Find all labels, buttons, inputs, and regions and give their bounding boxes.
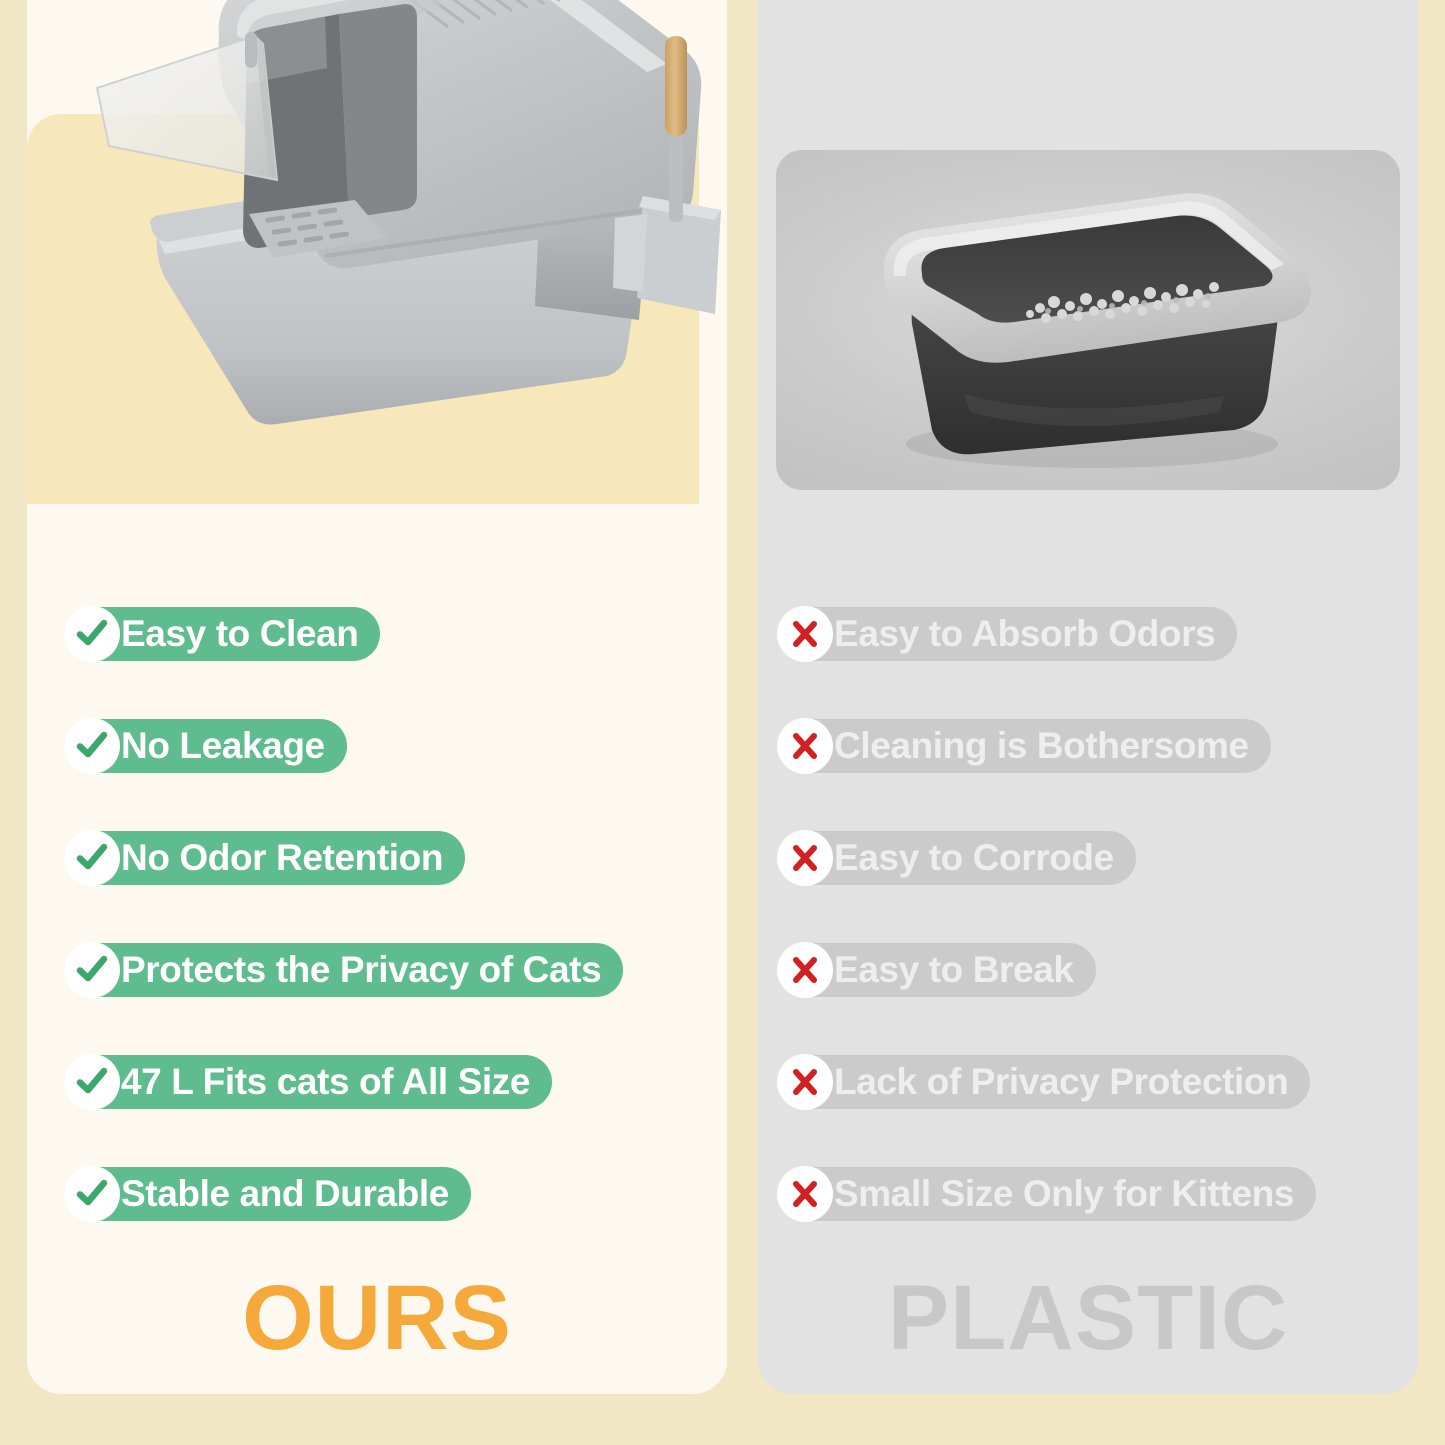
- cross-icon: [777, 830, 833, 886]
- cross-icon: [777, 1054, 833, 1110]
- feature-pill-protects-privacy[interactable]: Protects the Privacy of Cats: [73, 943, 623, 997]
- list-item[interactable]: Small Size Only for Kittens: [786, 1138, 1445, 1250]
- plastic-panel: Easy to Absorb Odors Cleaning is Bothers…: [758, 0, 1418, 1394]
- feature-pill-stable-durable[interactable]: Stable and Durable: [73, 1167, 471, 1221]
- drawback-pill-corrode[interactable]: Easy to Corrode: [786, 831, 1136, 885]
- drawback-pill-small-size[interactable]: Small Size Only for Kittens: [786, 1167, 1316, 1221]
- drawback-label: Lack of Privacy Protection: [834, 1063, 1288, 1100]
- feature-pill-easy-to-clean[interactable]: Easy to Clean: [73, 607, 380, 661]
- feature-label: Easy to Clean: [121, 615, 358, 652]
- cross-icon: [777, 606, 833, 662]
- list-item[interactable]: Lack of Privacy Protection: [786, 1026, 1445, 1138]
- drawback-pill-break[interactable]: Easy to Break: [786, 943, 1096, 997]
- comparison-infographic: Easy to Clean No Leakage No Odor Retenti…: [0, 0, 1445, 1445]
- list-item[interactable]: Cleaning is Bothersome: [786, 690, 1445, 802]
- cross-icon: [777, 718, 833, 774]
- drawback-label: Easy to Break: [834, 951, 1074, 988]
- ours-panel: Easy to Clean No Leakage No Odor Retenti…: [27, 0, 727, 1394]
- plastic-caption: PLASTIC: [758, 1272, 1418, 1364]
- feature-label: Protects the Privacy of Cats: [121, 951, 601, 988]
- list-item[interactable]: No Leakage: [73, 690, 773, 802]
- feature-label: No Leakage: [121, 727, 325, 764]
- feature-pill-no-leakage[interactable]: No Leakage: [73, 719, 347, 773]
- drawback-label: Easy to Corrode: [834, 839, 1114, 876]
- drawback-pill-absorb-odors[interactable]: Easy to Absorb Odors: [786, 607, 1237, 661]
- list-item[interactable]: Protects the Privacy of Cats: [73, 914, 773, 1026]
- check-icon: [64, 718, 120, 774]
- list-item[interactable]: Easy to Clean: [73, 578, 773, 690]
- drawback-label: Easy to Absorb Odors: [834, 615, 1215, 652]
- drawback-label: Cleaning is Bothersome: [834, 727, 1249, 764]
- check-icon: [64, 830, 120, 886]
- ours-feature-list: Easy to Clean No Leakage No Odor Retenti…: [27, 578, 773, 1250]
- list-item[interactable]: Easy to Break: [786, 914, 1445, 1026]
- feature-label: 47 L Fits cats of All Size: [121, 1063, 530, 1100]
- check-icon: [64, 1166, 120, 1222]
- drawback-pill-privacy[interactable]: Lack of Privacy Protection: [786, 1055, 1310, 1109]
- list-item[interactable]: 47 L Fits cats of All Size: [73, 1026, 773, 1138]
- feature-pill-capacity[interactable]: 47 L Fits cats of All Size: [73, 1055, 552, 1109]
- feature-label: No Odor Retention: [121, 839, 443, 876]
- list-item[interactable]: Easy to Corrode: [786, 802, 1445, 914]
- check-icon: [64, 942, 120, 998]
- check-icon: [64, 1054, 120, 1110]
- list-item[interactable]: Easy to Absorb Odors: [786, 578, 1445, 690]
- plastic-feature-list: Easy to Absorb Odors Cleaning is Bothers…: [758, 578, 1445, 1250]
- cross-icon: [777, 1166, 833, 1222]
- feature-label: Stable and Durable: [121, 1175, 449, 1212]
- open-litter-tray-image: [824, 172, 1354, 472]
- drawback-label: Small Size Only for Kittens: [834, 1175, 1294, 1212]
- feature-pill-no-odor-retention[interactable]: No Odor Retention: [73, 831, 465, 885]
- ours-caption: OURS: [27, 1272, 727, 1364]
- drawback-pill-cleaning-bothersome[interactable]: Cleaning is Bothersome: [786, 719, 1271, 773]
- list-item[interactable]: No Odor Retention: [73, 802, 773, 914]
- check-icon: [64, 606, 120, 662]
- list-item[interactable]: Stable and Durable: [73, 1138, 773, 1250]
- enclosed-litter-box-image: [87, 0, 727, 448]
- cross-icon: [777, 942, 833, 998]
- plastic-hero-image: [776, 150, 1400, 490]
